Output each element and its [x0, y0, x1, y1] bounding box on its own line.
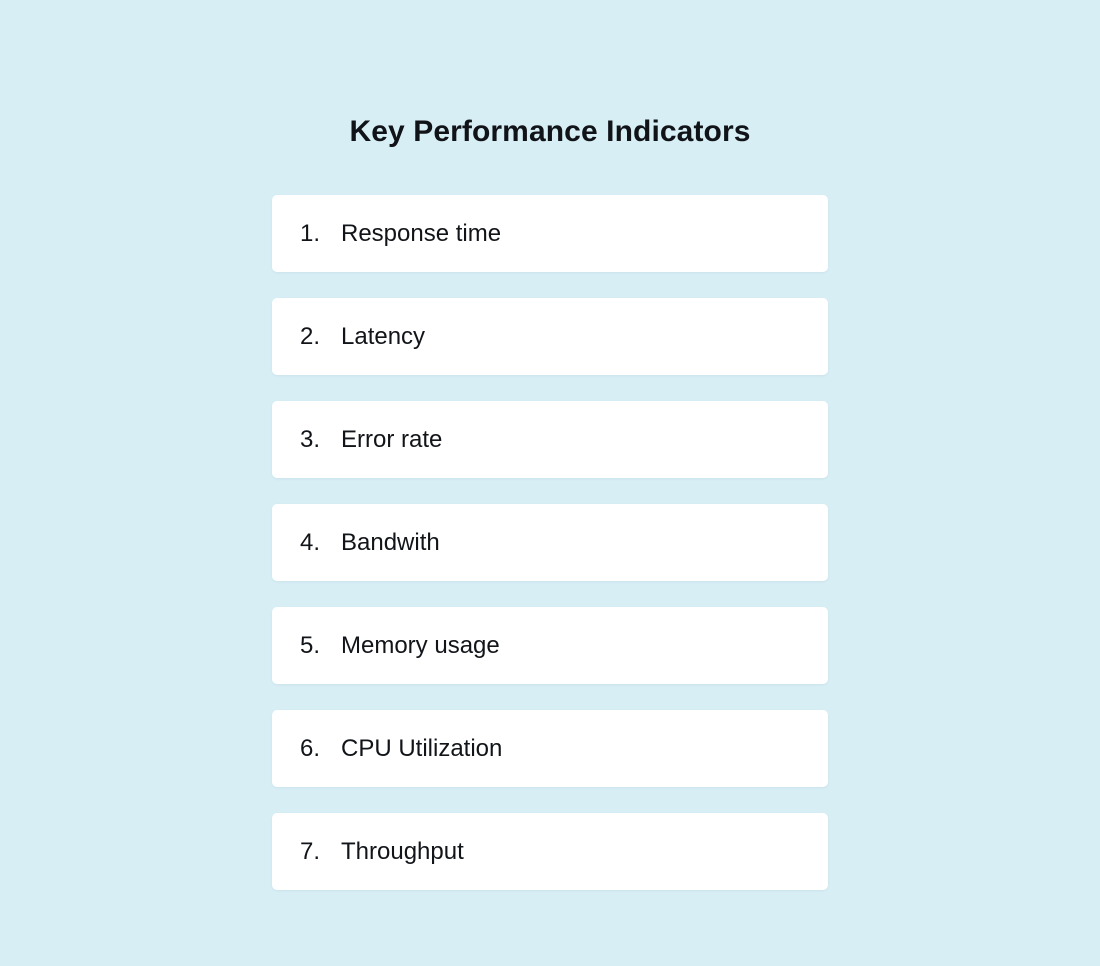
list-item-label: Latency	[341, 322, 425, 352]
list-item-index: 7.	[300, 837, 341, 867]
list-item-label: CPU Utilization	[341, 734, 502, 764]
list-item-index: 5.	[300, 631, 341, 661]
list-item-label: Throughput	[341, 837, 464, 867]
list-item[interactable]: 6. CPU Utilization	[272, 710, 828, 787]
list-item[interactable]: 2. Latency	[272, 298, 828, 375]
list-item-label: Response time	[341, 219, 501, 249]
kpi-list: 1. Response time 2. Latency 3. Error rat…	[272, 195, 828, 890]
page-title: Key Performance Indicators	[0, 112, 1100, 152]
list-item-index: 6.	[300, 734, 341, 764]
list-item-index: 4.	[300, 528, 341, 558]
kpi-page: Key Performance Indicators 1. Response t…	[0, 0, 1100, 966]
list-item-index: 1.	[300, 219, 341, 249]
list-item-index: 3.	[300, 425, 341, 455]
list-item[interactable]: 5. Memory usage	[272, 607, 828, 684]
list-item-label: Bandwith	[341, 528, 440, 558]
list-item[interactable]: 3. Error rate	[272, 401, 828, 478]
list-item[interactable]: 4. Bandwith	[272, 504, 828, 581]
list-item-label: Error rate	[341, 425, 442, 455]
list-item[interactable]: 1. Response time	[272, 195, 828, 272]
list-item[interactable]: 7. Throughput	[272, 813, 828, 890]
list-item-index: 2.	[300, 322, 341, 352]
list-item-label: Memory usage	[341, 631, 500, 661]
